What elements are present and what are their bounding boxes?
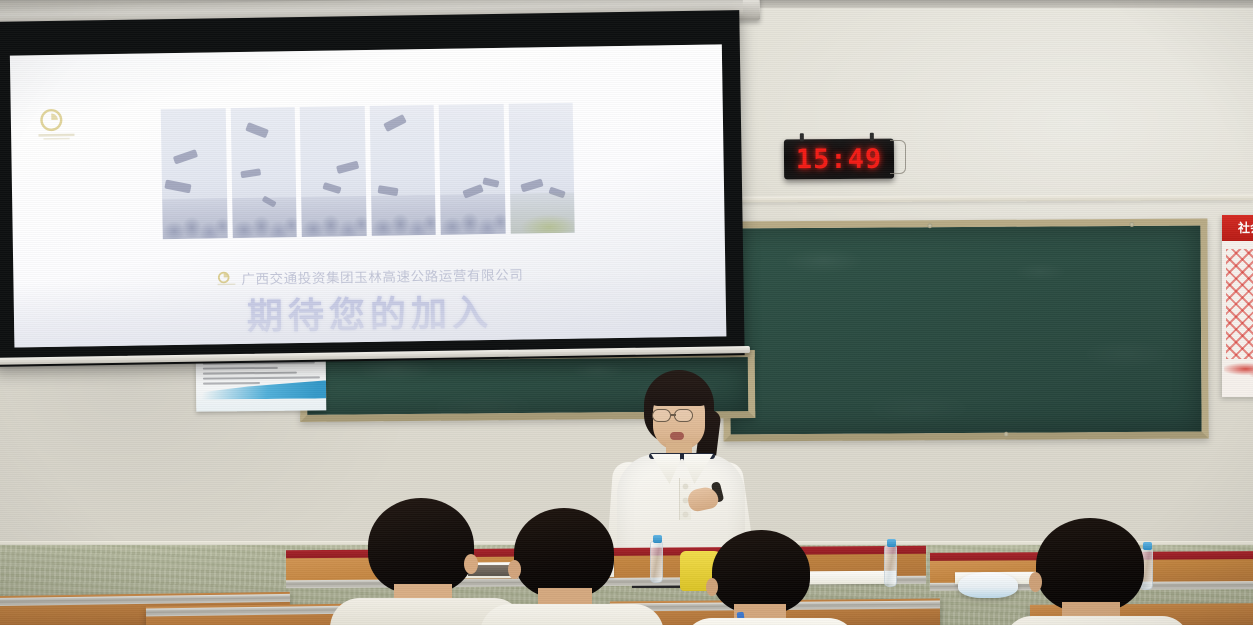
- classroom-scene: 15:49 社会: [0, 0, 1253, 625]
- student-ear: [1029, 572, 1042, 592]
- board-screw: [1004, 432, 1009, 437]
- student-hair-back: [712, 530, 810, 614]
- slide-headline: 期待您的加入: [14, 280, 727, 343]
- student-right[interactable]: [1036, 518, 1156, 625]
- student-hair-back: [368, 498, 474, 594]
- photo-column: [300, 106, 367, 237]
- eyeglasses-lens-left: [652, 409, 671, 422]
- graduation-photo-strip: [161, 103, 575, 239]
- red-wall-banner[interactable]: 社会: [1222, 215, 1253, 397]
- polo-button: [683, 484, 688, 489]
- wall-digital-clock[interactable]: 15:49: [784, 139, 894, 180]
- clock-bracket-left: [800, 133, 804, 141]
- presenter-mouth: [670, 432, 684, 440]
- photo-column: [369, 105, 436, 236]
- projection-surface[interactable]: 广西交通投资集团玉林高速公路运营有限公司 期待您的加入: [10, 44, 726, 347]
- photo-column: [439, 104, 506, 235]
- bottle-cap: [653, 535, 662, 543]
- student-shirt: [682, 618, 858, 625]
- clock-time-display: 15:49: [796, 145, 882, 173]
- photo-column: [230, 107, 297, 238]
- student-center-right[interactable]: [712, 530, 824, 625]
- notice-text-line: [203, 376, 320, 379]
- right-blackboard[interactable]: [722, 219, 1208, 442]
- notice-text-line: [203, 372, 297, 375]
- student-ear: [508, 560, 521, 579]
- presentation-slide: 广西交通投资集团玉林高速公路运营有限公司 期待您的加入: [10, 44, 726, 347]
- photo-column: [161, 108, 228, 239]
- polo-button: [683, 512, 688, 517]
- student-hair-back: [514, 508, 614, 598]
- white-cap-item[interactable]: [958, 572, 1018, 598]
- eyeglasses-bridge: [671, 414, 676, 416]
- eyeglasses-lens-right: [674, 409, 693, 422]
- clock-bracket-right: [870, 133, 874, 141]
- red-banner-heading: 社会: [1222, 215, 1253, 241]
- notice-text-line: [203, 382, 260, 385]
- water-bottle[interactable]: [884, 545, 897, 587]
- student-left[interactable]: [368, 498, 488, 625]
- student-hair-back: [1036, 518, 1144, 612]
- water-bottle[interactable]: [650, 541, 663, 583]
- notice-text-line: [203, 367, 278, 370]
- clock-power-wire: [890, 140, 906, 174]
- projector-screen-frame: 广西交通投资集团玉林高速公路运营有限公司 期待您的加入: [0, 10, 745, 367]
- student-shirt: [480, 604, 664, 625]
- red-banner-footer-art: [1224, 355, 1253, 383]
- photo-column: [508, 103, 575, 234]
- red-banner-pattern: [1226, 249, 1253, 359]
- student-ear: [464, 554, 478, 574]
- company-circle-logo: [33, 106, 84, 143]
- board-screw: [1130, 222, 1135, 227]
- presenter-fringe: [648, 380, 710, 406]
- bottle-cap: [887, 539, 896, 547]
- screen-housing-end-cap: [743, 0, 759, 17]
- student-ear: [706, 578, 718, 596]
- student-shirt: [1004, 616, 1190, 625]
- student-center-left[interactable]: [514, 508, 630, 625]
- company-mini-logo: [215, 271, 237, 287]
- board-screw: [927, 223, 932, 228]
